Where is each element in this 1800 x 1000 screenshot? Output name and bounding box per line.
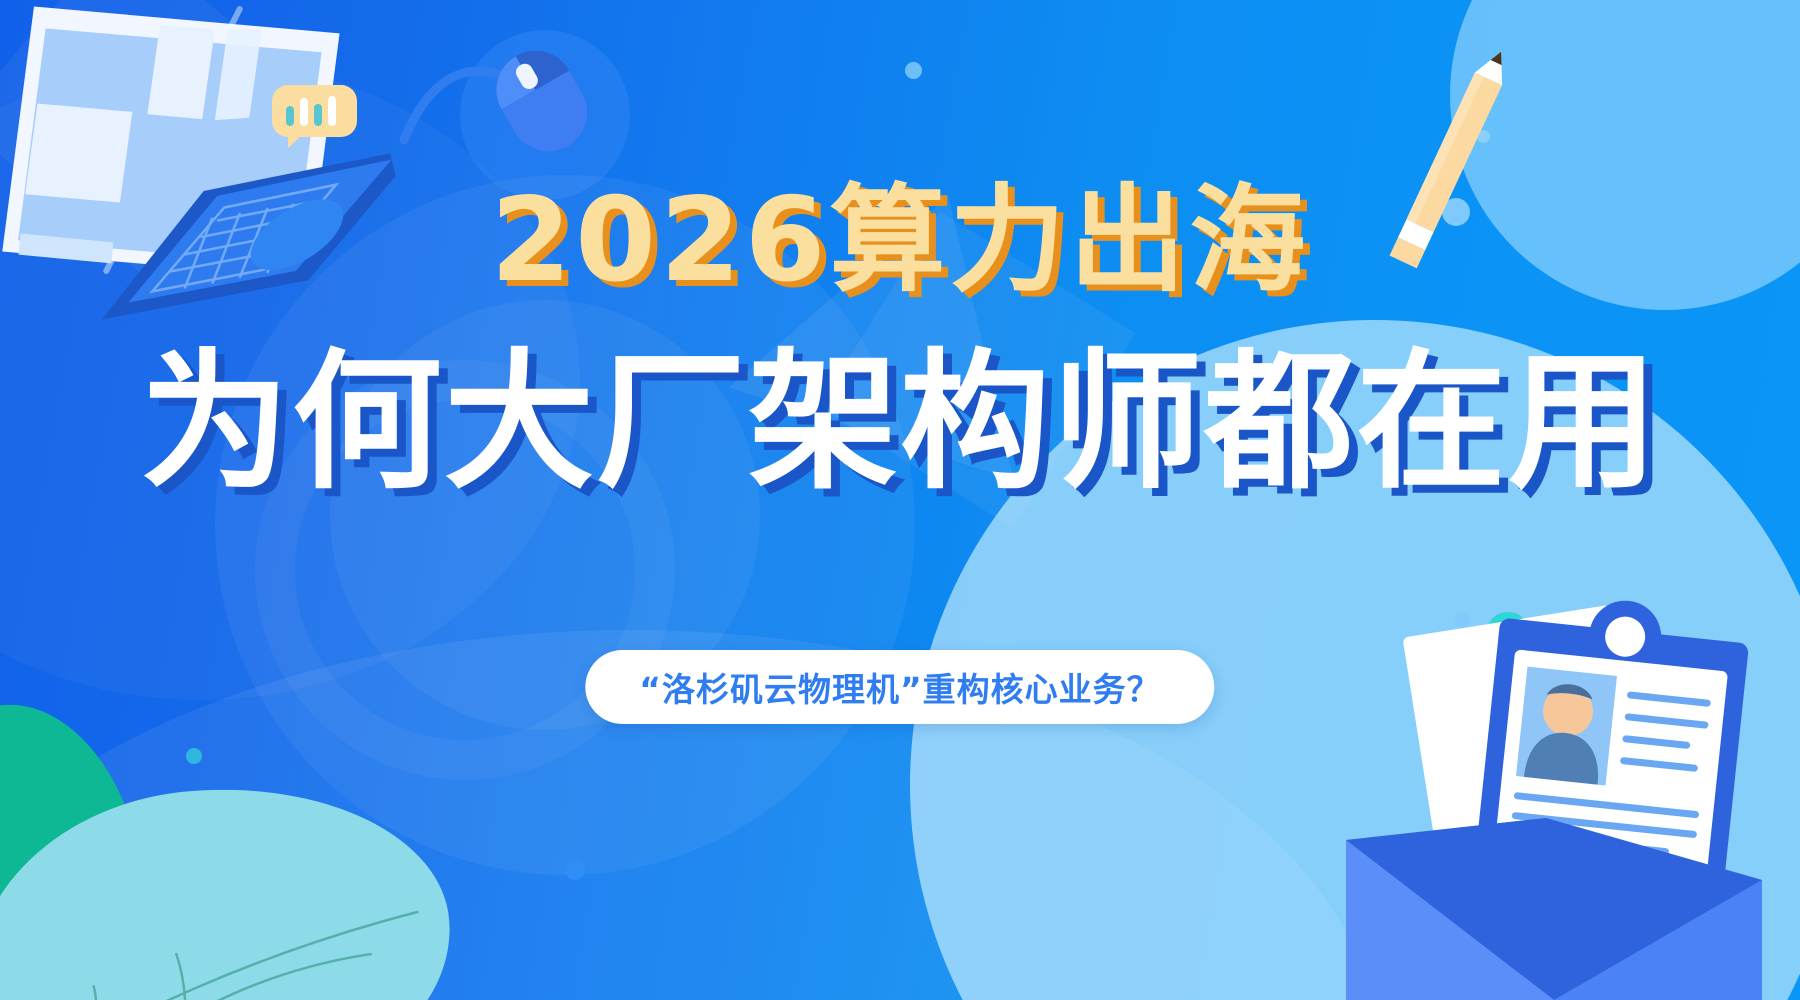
banner-title-line-1: 2026算力出海 <box>491 183 1310 299</box>
banner-subtitle-text: “洛杉矶云物理机”重构核心业务？ <box>639 663 1160 711</box>
banner-text-block: 2026算力出海 为何大厂架构师都在用 “洛杉矶云物理机”重构核心业务？ <box>0 0 1800 1000</box>
banner-subtitle-pill[interactable]: “洛杉矶云物理机”重构核心业务？ <box>585 650 1214 724</box>
promo-banner: 2026算力出海 为何大厂架构师都在用 “洛杉矶云物理机”重构核心业务？ <box>0 0 1800 1000</box>
banner-title-line-2: 为何大厂架构师都在用 <box>140 348 1660 498</box>
